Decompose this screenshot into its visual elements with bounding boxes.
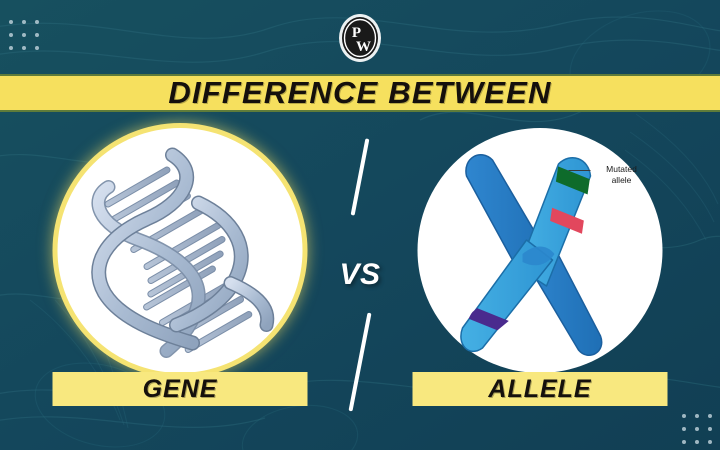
dot [708, 414, 712, 418]
callout-line-2: allele [591, 175, 653, 186]
dot [695, 414, 699, 418]
svg-text:W: W [356, 39, 371, 55]
gene-circle [58, 128, 303, 373]
title-banner: DIFFERENCE BETWEEN [0, 74, 720, 112]
dot [9, 33, 13, 37]
allele-label: ALLELE [488, 375, 591, 404]
dna-double-helix-icon [80, 143, 280, 358]
dot [22, 46, 26, 50]
vs-divider: VS [330, 130, 390, 420]
dot [9, 46, 13, 50]
callout-line-1: Mutated [591, 164, 653, 175]
dot [22, 33, 26, 37]
dot [35, 46, 39, 50]
gene-label: GENE [143, 375, 218, 404]
gene-label-box: GENE [53, 372, 308, 406]
dot [695, 427, 699, 431]
dot [9, 20, 13, 24]
vs-label: VS [339, 258, 380, 292]
dot [682, 440, 686, 444]
dot [708, 427, 712, 431]
dot [708, 440, 712, 444]
dot [22, 20, 26, 24]
allele-label-box: ALLELE [413, 372, 668, 406]
allele-circle-wrap: Mutated allele [418, 128, 663, 373]
pw-logo-icon: P W [336, 12, 384, 64]
callout-leader-line [569, 170, 591, 171]
dot [695, 440, 699, 444]
panel-gene: GENE [30, 128, 330, 428]
divider-slash-bottom [348, 313, 371, 412]
mutated-allele-callout: Mutated allele [591, 164, 653, 187]
panel-allele: Mutated allele ALLELE [390, 128, 690, 428]
decorative-dot-grid-top-left [9, 20, 39, 50]
infographic-canvas: P W DIFFERENCE BETWEEN [0, 0, 720, 450]
dot [35, 20, 39, 24]
dot [35, 33, 39, 37]
gene-circle-wrap [58, 128, 303, 373]
divider-slash-top [351, 138, 370, 215]
page-title: DIFFERENCE BETWEEN [168, 75, 551, 111]
